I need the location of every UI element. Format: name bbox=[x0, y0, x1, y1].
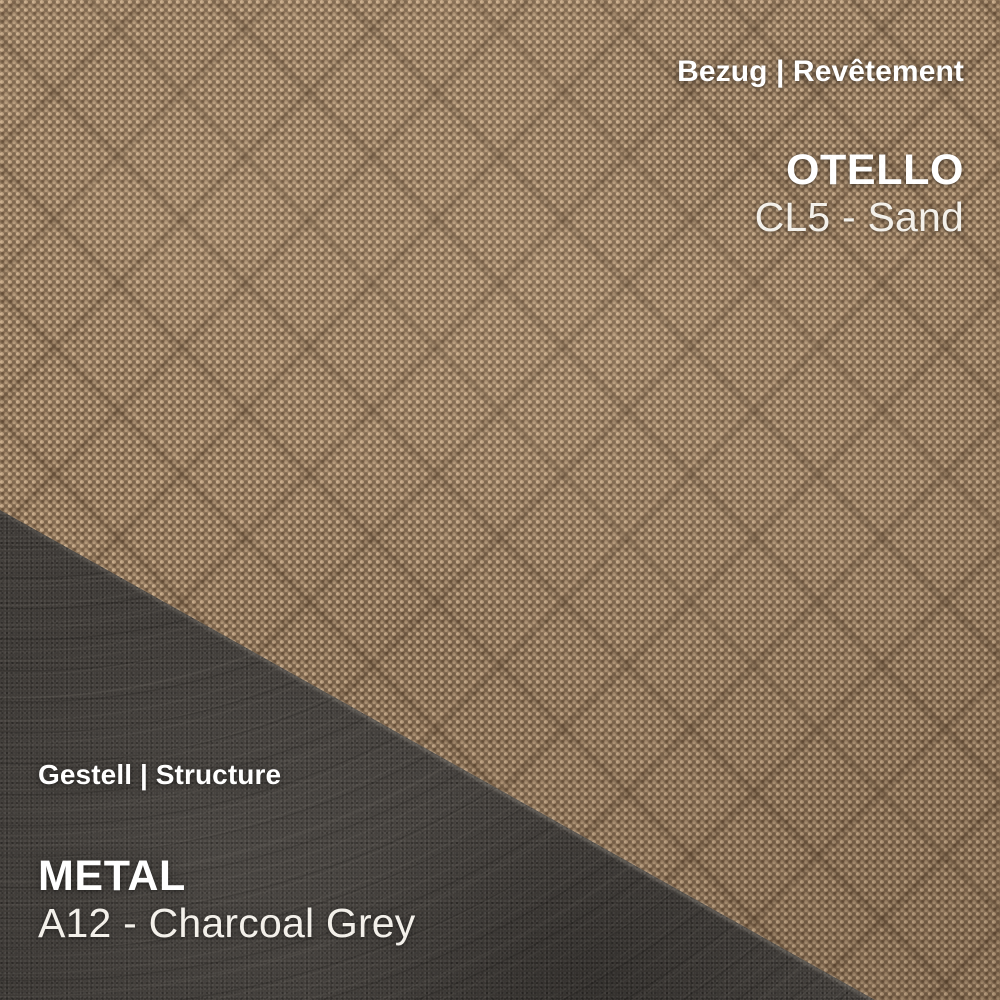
metal-material-code: A12 - Charcoal Grey bbox=[38, 900, 416, 948]
metal-label-group: Gestell | Structure METAL A12 - Charcoal… bbox=[38, 760, 416, 949]
fabric-material-name: OTELLO bbox=[677, 146, 964, 194]
metal-material-name: METAL bbox=[38, 852, 416, 900]
fabric-category-label: Bezug | Revêtement bbox=[677, 55, 964, 88]
fabric-material-code: CL5 - Sand bbox=[677, 194, 964, 242]
material-swatch-card: Bezug | Revêtement OTELLO CL5 - Sand Ges… bbox=[0, 0, 1000, 1000]
fabric-label-group: Bezug | Revêtement OTELLO CL5 - Sand bbox=[677, 55, 964, 242]
metal-category-label: Gestell | Structure bbox=[38, 760, 416, 791]
